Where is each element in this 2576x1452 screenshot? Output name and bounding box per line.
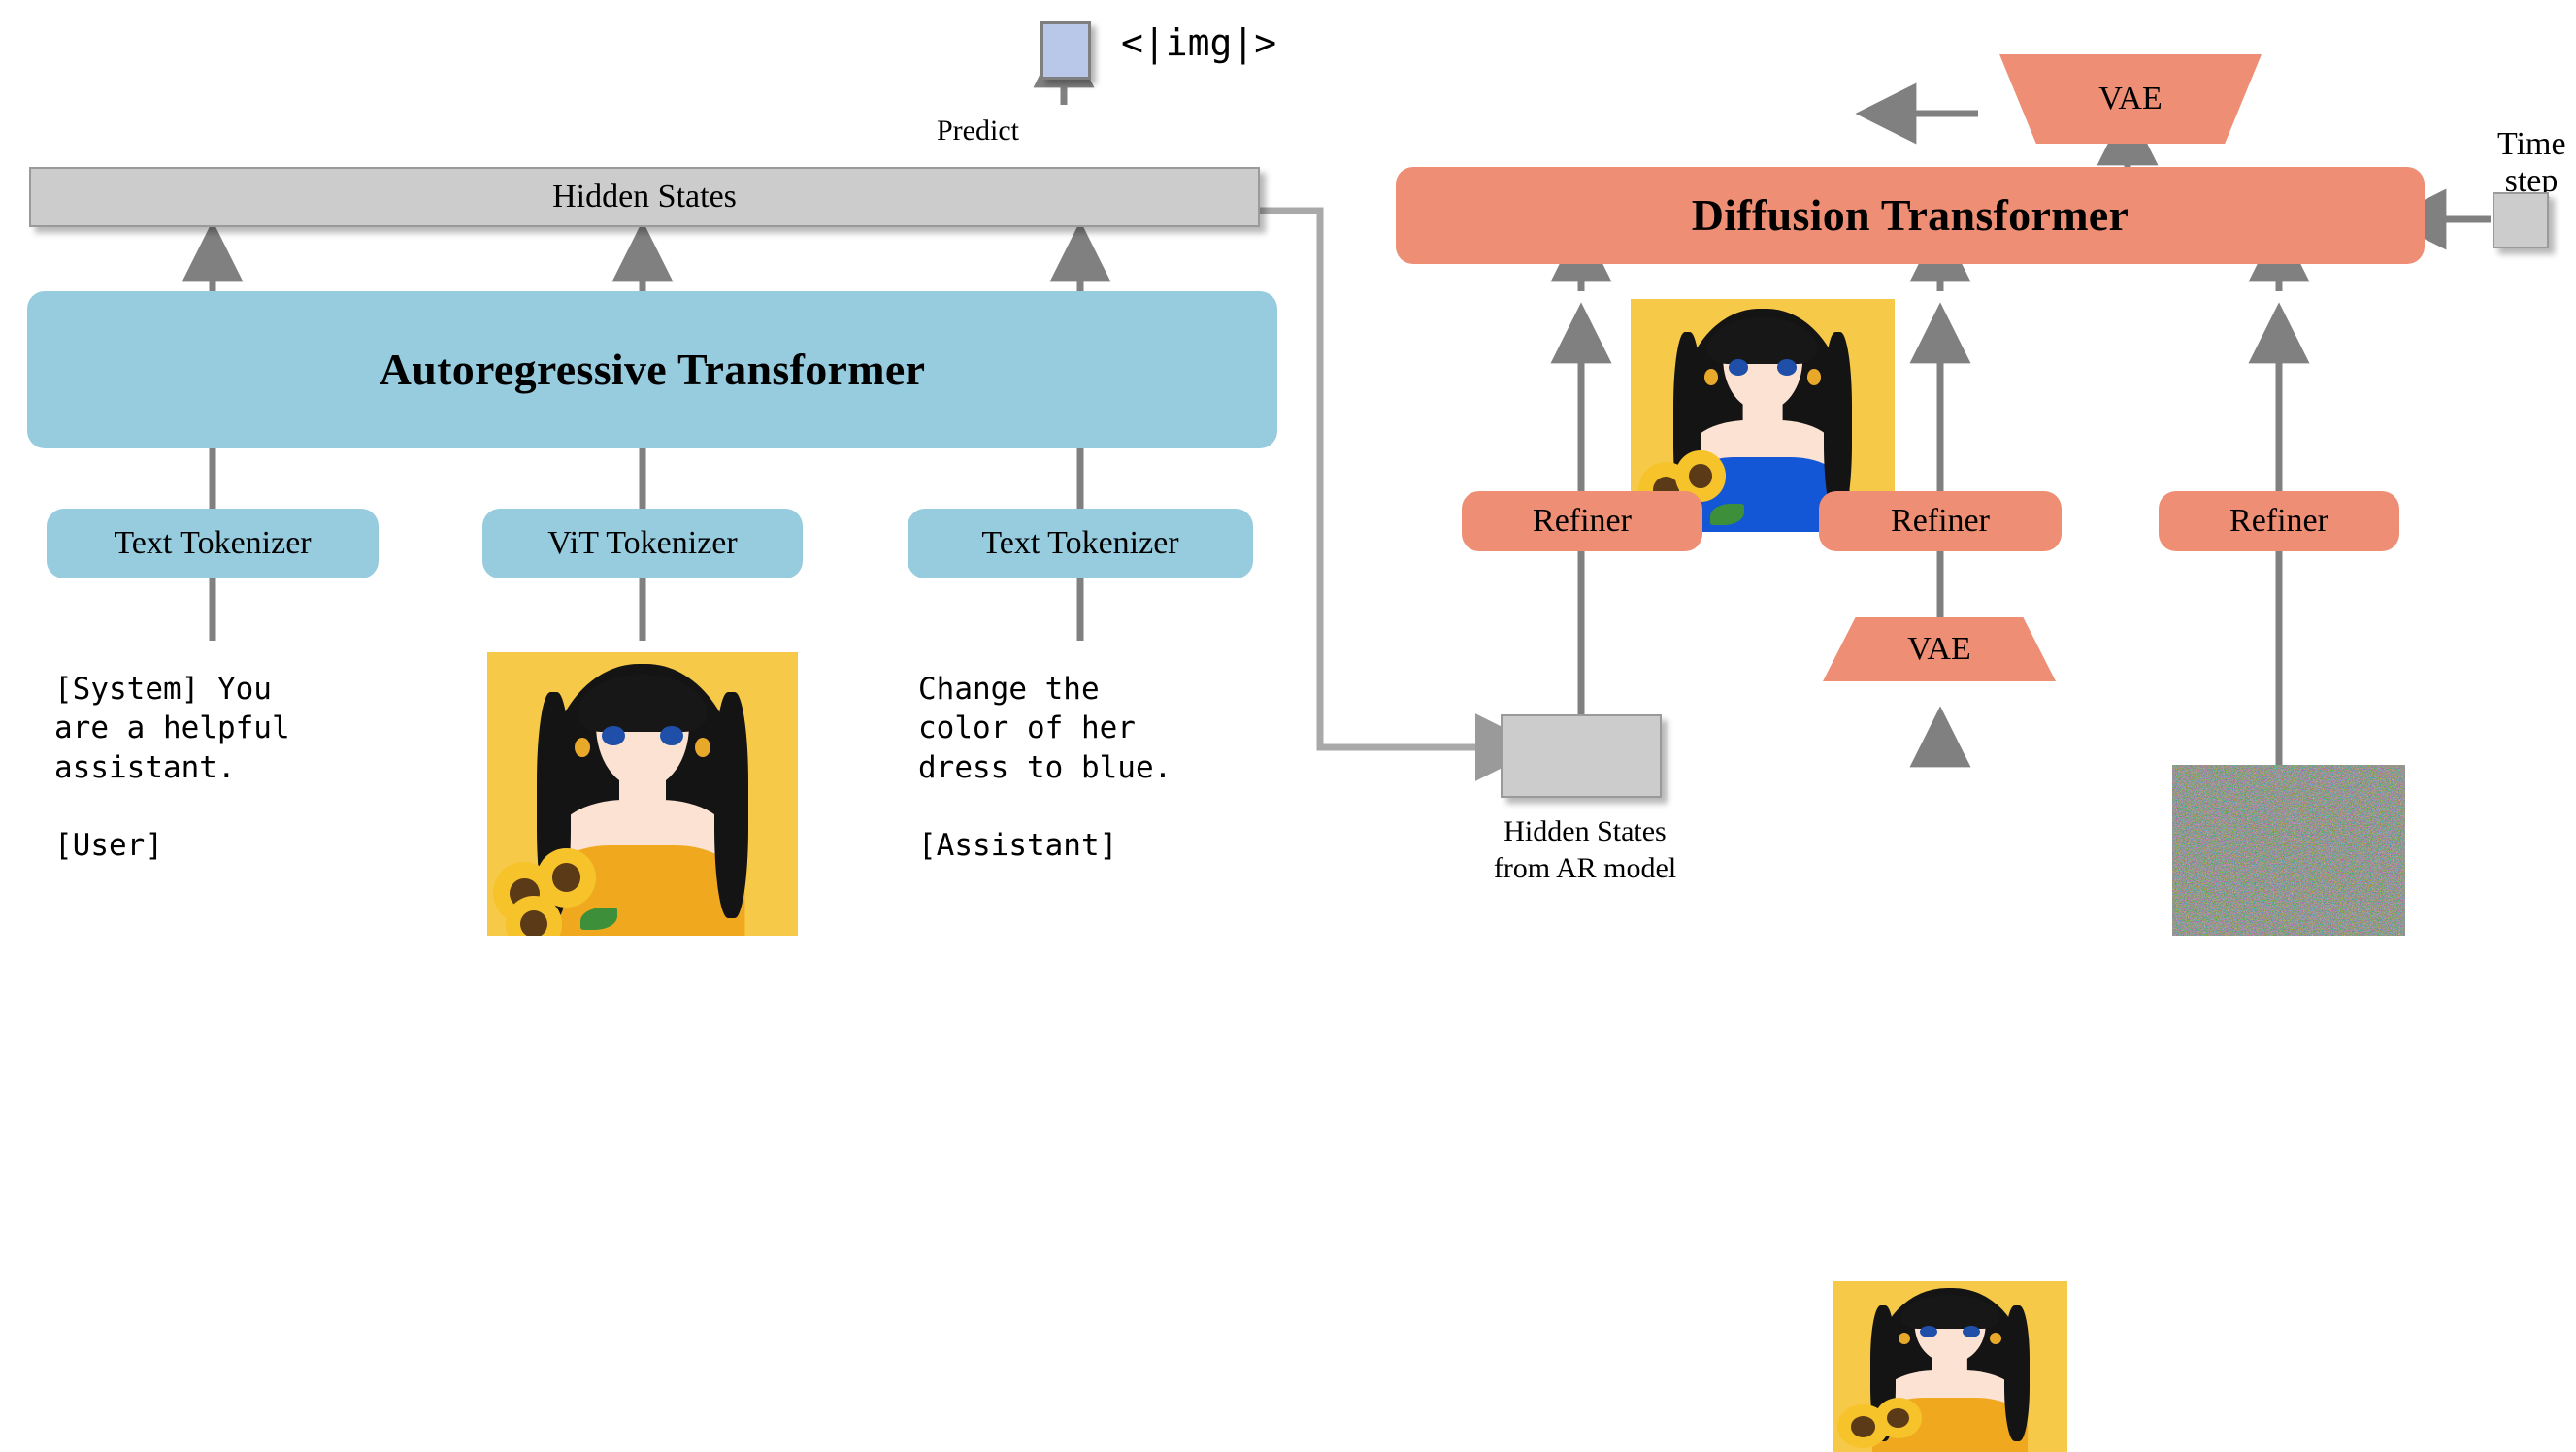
- architecture-diagram: <|img|> Predict Hidden States Autoregres…: [0, 0, 2576, 936]
- user-instruction-text: Change the color of her dress to blue. […: [918, 670, 1172, 865]
- diffusion-transformer-label: Diffusion Transformer: [1692, 191, 2130, 241]
- hidden-states-caption-line2: from AR model: [1477, 852, 1693, 885]
- input-image-left: [487, 652, 798, 936]
- diffusion-input-image: [1833, 1281, 2067, 1452]
- earring-right: [1807, 369, 1821, 385]
- system-prompt-text: [System] You are a helpful assistant. [U…: [54, 670, 290, 865]
- hair-front-right: [1824, 332, 1853, 518]
- hair-front-right: [714, 692, 748, 919]
- hidden-states-label: Hidden States: [552, 179, 737, 214]
- refiner-2-label: Refiner: [1891, 503, 1990, 539]
- text-tokenizer-1-label: Text Tokenizer: [114, 525, 311, 561]
- eye-right: [660, 726, 683, 745]
- hidden-states-bar: Hidden States: [29, 167, 1260, 227]
- eye-left: [1920, 1326, 1937, 1337]
- refiner-1-label: Refiner: [1533, 503, 1632, 539]
- timestep-box: [2493, 192, 2549, 248]
- vit-tokenizer: ViT Tokenizer: [482, 509, 803, 578]
- vae-decoder: VAE: [1999, 54, 2262, 144]
- vit-tokenizer-label: ViT Tokenizer: [547, 525, 737, 561]
- refiner-1: Refiner: [1462, 491, 1702, 551]
- sunflower-2: [1875, 1398, 1922, 1438]
- refiner-2: Refiner: [1819, 491, 2062, 551]
- earring-left: [1704, 369, 1718, 385]
- hidden-states-caption-line1: Hidden States: [1490, 815, 1680, 848]
- refiner-3: Refiner: [2159, 491, 2399, 551]
- text-tokenizer-1: Text Tokenizer: [47, 509, 379, 578]
- diffusion-transformer: Diffusion Transformer: [1396, 167, 2425, 264]
- vae-encoder: VAE: [1823, 617, 2056, 681]
- text-tokenizer-2: Text Tokenizer: [908, 509, 1253, 578]
- predict-label: Predict: [937, 115, 1019, 148]
- refiner-3-label: Refiner: [2229, 503, 2328, 539]
- timestep-label-line1: Time: [2497, 126, 2565, 163]
- autoregressive-transformer-label: Autoregressive Transformer: [380, 346, 926, 395]
- noise-latent-image: [2172, 765, 2405, 936]
- earring-left: [575, 738, 590, 757]
- vae-encoder-label: VAE: [1907, 631, 1971, 668]
- vae-decoder-label: VAE: [2098, 81, 2163, 117]
- earring-left: [1899, 1333, 1910, 1344]
- autoregressive-transformer: Autoregressive Transformer: [27, 291, 1277, 448]
- hidden-states-small-box: [1501, 714, 1662, 798]
- eye-left: [1729, 359, 1748, 376]
- text-tokenizer-2-label: Text Tokenizer: [981, 525, 1178, 561]
- img-token-box: [1040, 21, 1091, 80]
- noise-pattern: [2172, 765, 2405, 936]
- img-token-label: <|img|>: [1121, 21, 1276, 64]
- hair-front-right: [2004, 1305, 2031, 1442]
